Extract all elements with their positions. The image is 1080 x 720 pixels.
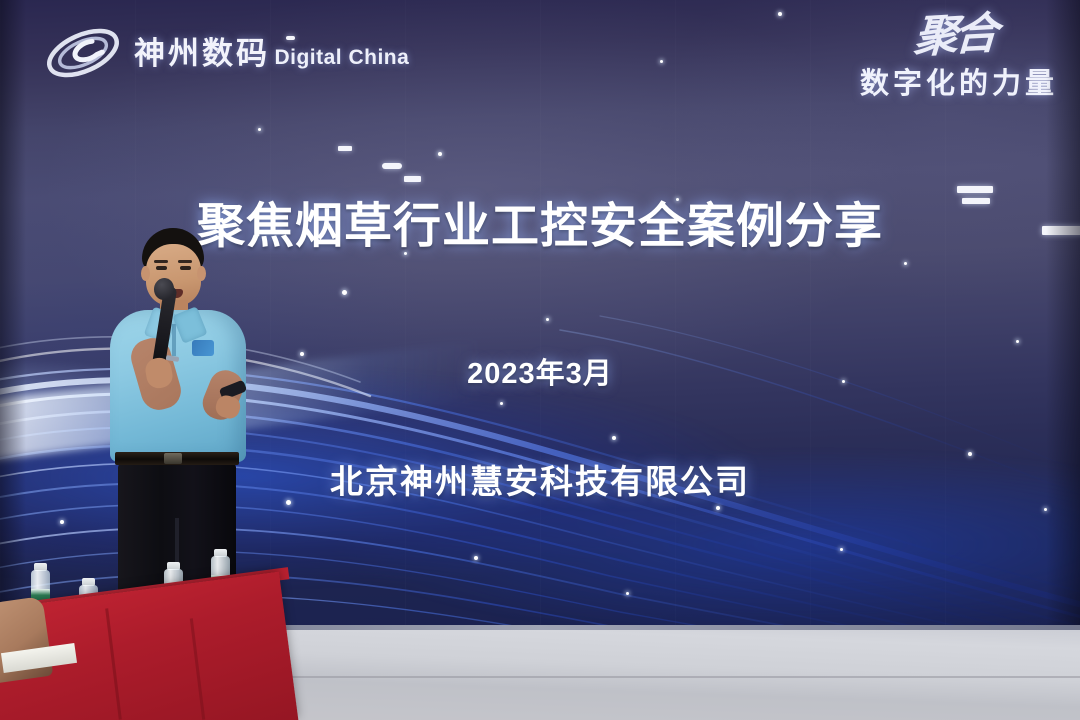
wall-mark-left-pill	[382, 163, 402, 169]
presenter-shirt-placket	[172, 324, 176, 356]
presenter-eye-right	[180, 266, 191, 270]
brand-name-cn: 神州数码	[134, 36, 270, 71]
digital-china-swirl-icon	[44, 16, 122, 90]
presenter-belt-buckle	[164, 453, 182, 464]
brand-name-en: Digital China	[274, 46, 409, 69]
presenter-ear-left	[141, 266, 150, 281]
presenter-brow-right	[178, 260, 192, 263]
wall-mark-title-tick	[404, 176, 421, 182]
presenter-ear-right	[197, 266, 206, 281]
theme-calligraphy: 聚合	[913, 12, 996, 60]
event-theme: 聚合 数字化的力量	[860, 14, 1058, 102]
presenter	[88, 228, 278, 628]
presenter-eye-left	[156, 266, 167, 270]
stage-photo: 神州数码 Digital China 聚合 数字化的力量 聚焦烟草行业工控安全案…	[0, 0, 1080, 720]
theme-subtitle: 数字化的力量	[860, 60, 1058, 102]
wall-mark-left-small	[338, 146, 352, 151]
presenter-brow-left	[154, 260, 168, 263]
presenter-chest-logo	[192, 340, 214, 356]
brand-logo: 神州数码 Digital China	[44, 16, 409, 90]
